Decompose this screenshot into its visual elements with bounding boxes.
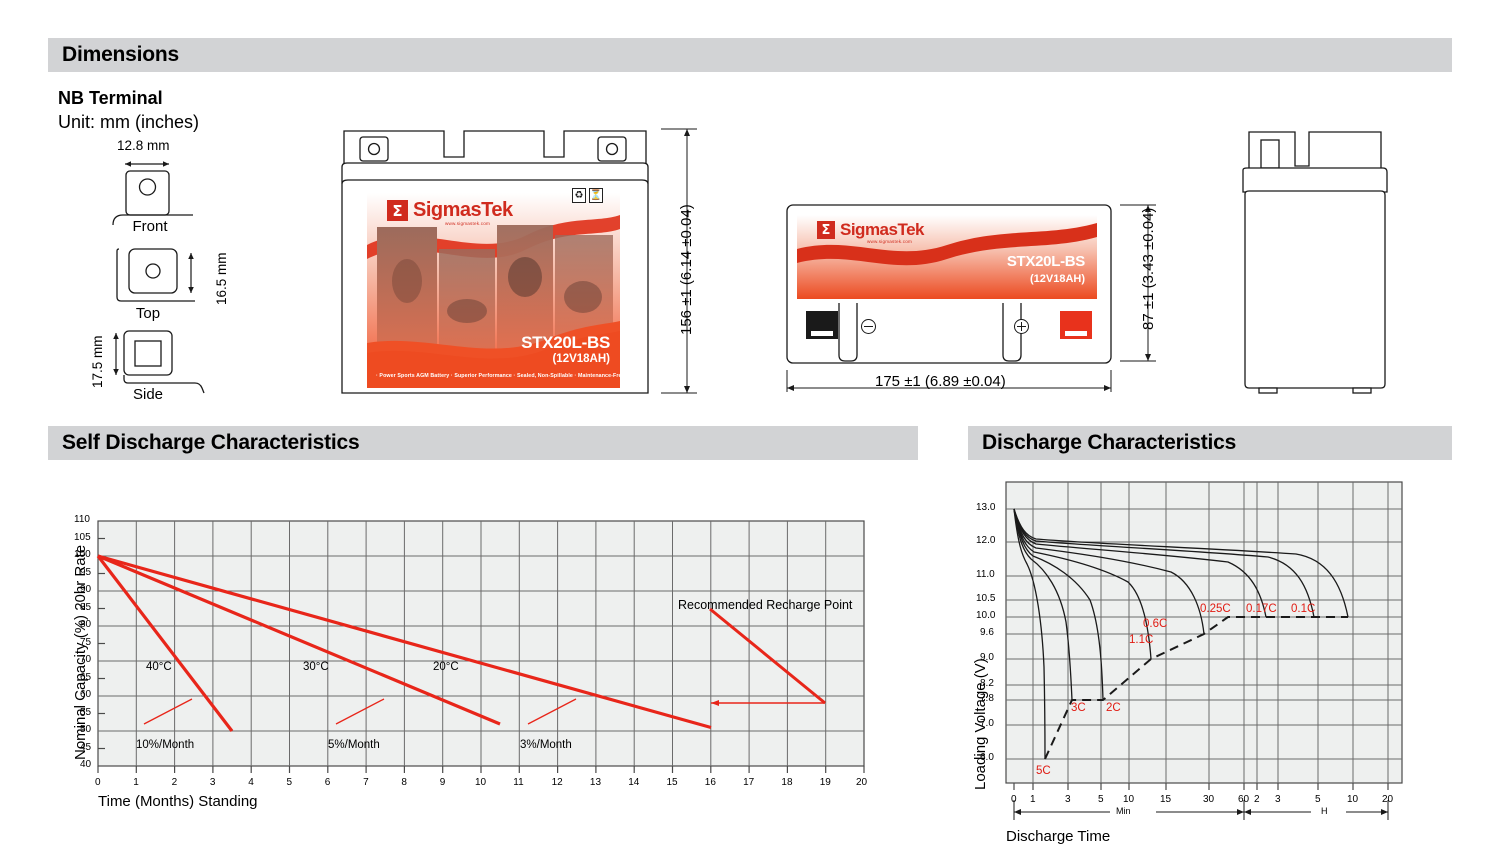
terminal-height-label: 17.5 mm: [90, 335, 105, 388]
sigma-logo-icon-side: Σ: [817, 221, 835, 239]
dc-unit-h: H: [1321, 806, 1328, 816]
sd-xtick-17: 17: [743, 777, 754, 788]
annotation-0-1c: 0.1C: [1291, 603, 1315, 615]
nb-terminal-heading: NB Terminal: [58, 88, 163, 109]
terminal-view-label-top: Top: [108, 305, 188, 322]
recycle-icon: ♻: [572, 188, 586, 203]
section-header-dimensions: Dimensions: [48, 38, 1452, 72]
sd-xtick-1: 1: [133, 777, 139, 788]
annotation-1-1c: 1.1C: [1129, 634, 1153, 646]
brand-url: www.sigmastek.com: [445, 221, 490, 226]
annotation-10pct-month: 10%/Month: [136, 739, 194, 751]
sd-xtick-19: 19: [820, 777, 831, 788]
sd-xtick-7: 7: [363, 777, 369, 788]
annotation-20c: 20°C: [433, 661, 459, 673]
sd-xtick-8: 8: [401, 777, 407, 788]
sd-ytick-70: 70: [80, 654, 91, 665]
battery-width-label: 87 ±1 (3.43 ±0.04): [1140, 208, 1157, 330]
unit-note: Unit: mm (inches): [58, 112, 199, 133]
sd-xtick-5: 5: [287, 777, 293, 788]
annotation-2c: 2C: [1106, 702, 1121, 714]
battery-front-label: Σ SigmasTek www.sigmastek.com STX20L-BS …: [367, 193, 620, 388]
section-title-self-discharge: Self Discharge Characteristics: [48, 431, 359, 455]
sd-xtick-18: 18: [781, 777, 792, 788]
sd-xtick-2: 2: [172, 777, 178, 788]
sd-ytick-65: 65: [80, 672, 91, 683]
brand-url-side: www.sigmastek.com: [867, 239, 912, 244]
annotation-5c: 5C: [1036, 765, 1051, 777]
sd-ytick-105: 105: [74, 532, 91, 543]
dc-unit-min: Min: [1116, 806, 1131, 816]
sd-ytick-100: 100: [74, 549, 91, 560]
dc-xtick-10h: 10: [1347, 794, 1358, 805]
dc-ytick-7-8: 7.8: [980, 693, 994, 704]
dc-ytick-8-2: 8.2: [980, 678, 994, 689]
terminal-width-label: 12.8 mm: [117, 138, 170, 153]
negative-terminal-slot: [811, 331, 833, 336]
dc-xtick-30: 30: [1203, 794, 1214, 805]
sd-xtick-16: 16: [705, 777, 716, 788]
dc-xtick-1: 1: [1030, 794, 1036, 805]
sd-xtick-3: 3: [210, 777, 216, 788]
sd-xtick-6: 6: [325, 777, 331, 788]
dc-ytick-13: 13.0: [976, 502, 995, 513]
sd-xtick-12: 12: [552, 777, 563, 788]
dc-ytick-12: 12.0: [976, 535, 995, 546]
model-capacity-side: (12V18AH): [1030, 273, 1085, 285]
sd-ytick-55: 55: [80, 707, 91, 718]
sd-xtick-4: 4: [248, 777, 254, 788]
dc-xtick-3a: 3: [1065, 794, 1071, 805]
section-header-self-discharge: Self Discharge Characteristics: [48, 426, 918, 460]
sd-xtick-14: 14: [628, 777, 639, 788]
annotation-0-6c: 0.6C: [1143, 618, 1167, 630]
sd-ytick-85: 85: [80, 602, 91, 613]
sd-ytick-45: 45: [80, 742, 91, 753]
self-discharge-chart: 110 105 100 95 90 85 80 75 70 65 60 55 5…: [98, 521, 864, 766]
model-capacity-front: (12V18AH): [410, 353, 610, 365]
sd-ytick-40: 40: [80, 759, 91, 770]
model-name-front: STX20L-BS: [410, 333, 610, 353]
section-header-discharge: Discharge Characteristics: [968, 426, 1452, 460]
discharge-xlabel: Discharge Time: [1006, 828, 1110, 845]
discharge-chart: 13.0 12.0 11.0 10.5 10.0 9.6 9.0 8.2 7.8…: [1006, 482, 1402, 783]
dc-xtick-20h: 20: [1382, 794, 1393, 805]
feature-strip: · Power Sports AGM Battery · Superior Pe…: [376, 373, 620, 379]
battery-profile-outline: [1235, 128, 1395, 398]
section-title-dimensions: Dimensions: [48, 43, 179, 67]
dc-xtick-0: 0: [1011, 794, 1017, 805]
sd-ytick-110: 110: [74, 514, 90, 525]
sd-xtick-0: 0: [95, 777, 101, 788]
brand-logo: Σ SigmasTek: [387, 199, 513, 222]
dc-ytick-6: 6.0: [980, 752, 994, 763]
dc-ytick-11: 11.0: [976, 569, 995, 580]
battery-length-label: 175 ±1 (6.89 ±0.04): [875, 373, 1006, 390]
dc-xtick-60: 60: [1238, 794, 1249, 805]
positive-polarity-icon: [1014, 319, 1029, 334]
annotation-0-25c: 0.25C: [1200, 603, 1231, 615]
annotation-40c: 40°C: [146, 661, 172, 673]
battery-side-label: Σ SigmasTek www.sigmastek.com STX20L-BS …: [797, 215, 1097, 299]
dc-ytick-9-6: 9.6: [980, 627, 994, 638]
dc-xtick-15: 15: [1160, 794, 1171, 805]
dc-ytick-10: 10.0: [976, 610, 995, 621]
annotation-30c: 30°C: [303, 661, 329, 673]
self-discharge-xlabel: Time (Months) Standing: [98, 793, 258, 810]
battery-height-label: 156 ±1 (6.14 ±0.04): [678, 204, 695, 335]
annotation-3c: 3C: [1071, 702, 1086, 714]
sd-xtick-10: 10: [475, 777, 486, 788]
model-name-side: STX20L-BS: [1007, 253, 1085, 270]
dc-xtick-3h: 3: [1275, 794, 1281, 805]
sd-xtick-15: 15: [667, 777, 678, 788]
annotation-0-17c: 0.17C: [1246, 603, 1277, 615]
sd-ytick-50: 50: [80, 724, 91, 735]
annotation-5pct-month: 5%/Month: [328, 739, 380, 751]
sd-xtick-13: 13: [590, 777, 601, 788]
dc-xtick-10a: 10: [1123, 794, 1134, 805]
sd-xtick-9: 9: [440, 777, 446, 788]
sd-ytick-60: 60: [80, 689, 91, 700]
dc-xtick-5a: 5: [1098, 794, 1104, 805]
sd-ytick-80: 80: [80, 619, 91, 630]
sd-ytick-95: 95: [80, 567, 91, 578]
sd-xtick-11: 11: [513, 777, 523, 788]
brand-name-side: SigmasTek: [840, 220, 924, 240]
sigma-logo-icon: Σ: [387, 200, 408, 221]
terminal-depth-label: 16.5 mm: [214, 252, 229, 305]
terminal-view-label-front: Front: [110, 218, 190, 235]
sd-ytick-75: 75: [80, 637, 91, 648]
brand-logo-side: Σ SigmasTek: [817, 220, 924, 240]
sd-ytick-90: 90: [80, 584, 91, 595]
sd-xtick-20: 20: [856, 777, 867, 788]
dc-ytick-10-5: 10.5: [976, 593, 995, 604]
section-title-discharge: Discharge Characteristics: [968, 431, 1236, 455]
brand-name: SigmasTek: [413, 199, 513, 222]
dc-ytick-7: 7.0: [980, 718, 994, 729]
negative-polarity-icon: [861, 319, 876, 334]
certification-icons: ♻ ⏳: [572, 188, 603, 203]
annotation-recommended-recharge-point: Recommended Recharge Point: [678, 598, 852, 612]
dc-ytick-9: 9.0: [980, 652, 994, 663]
dc-xtick-2h: 2: [1254, 794, 1260, 805]
positive-terminal-slot: [1065, 331, 1087, 336]
terminal-view-label-side: Side: [108, 386, 188, 403]
dc-xtick-5h: 5: [1315, 794, 1321, 805]
annotation-3pct-month: 3%/Month: [520, 739, 572, 751]
no-dispose-icon: ⏳: [589, 188, 603, 203]
